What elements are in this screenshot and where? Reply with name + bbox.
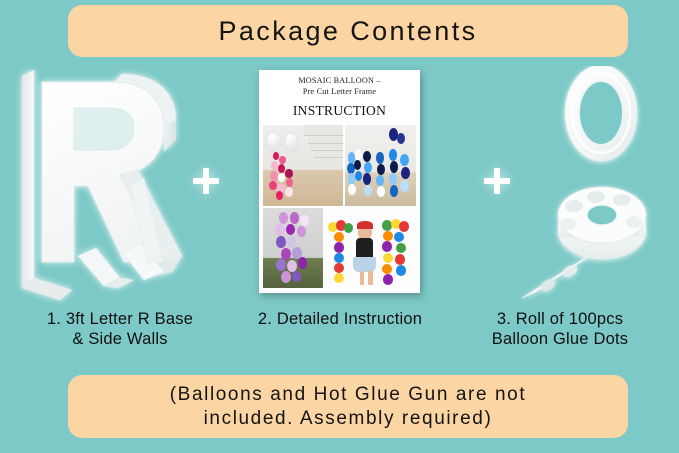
item-1-caption: 1. 3ft Letter R Base & Side Walls (47, 310, 193, 350)
item-1-letter-r: 1. 3ft Letter R Base & Side Walls (4, 310, 236, 350)
footer-note-text: (Balloons and Hot Glue Gun are not inclu… (170, 383, 526, 431)
item-3-caption: 3. Roll of 100pcs Balloon Glue Dots (492, 310, 628, 350)
package-contents-infographic: Package Contents (0, 0, 679, 453)
booklet-subtitle: MOSAIC BALLOON – Pre Cut Letter Frame (263, 76, 416, 97)
booklet-header: MOSAIC BALLOON – Pre Cut Letter Frame IN… (259, 70, 420, 122)
letter-r-product-image (12, 66, 192, 306)
booklet-photo-collage (259, 122, 420, 293)
item-3-glue-dots: 3. Roll of 100pcs Balloon Glue Dots (444, 310, 676, 350)
rainbow-mosaic-letters-with-child-photo (325, 208, 416, 289)
letter-r-svg (12, 66, 192, 306)
glue-dots-product-image (498, 66, 678, 306)
letter-r-group (22, 70, 182, 300)
glue-dots-svg (498, 66, 678, 306)
glue-dot-roll-bottom (522, 187, 646, 298)
instruction-booklet-image: MOSAIC BALLOON – Pre Cut Letter Frame IN… (259, 70, 420, 293)
item-2-caption: 2. Detailed Instruction (258, 310, 422, 330)
purple-mosaic-s-photo (263, 208, 323, 289)
item-2-instruction: 2. Detailed Instruction (240, 310, 440, 330)
collage-row-bottom (263, 208, 416, 289)
plus-sign-1-icon (193, 168, 219, 194)
pink-mosaic-letters-photo (263, 125, 343, 206)
glue-dot-ring-top (565, 66, 637, 161)
header-banner: Package Contents (68, 5, 628, 57)
blue-mosaic-letters-photo (345, 125, 416, 206)
page-title: Package Contents (218, 18, 477, 45)
side-wall-strip-a (78, 248, 120, 286)
collage-row-top (263, 125, 416, 206)
booklet-title: INSTRUCTION (263, 103, 416, 119)
footer-note-banner: (Balloons and Hot Glue Gun are not inclu… (68, 375, 628, 438)
